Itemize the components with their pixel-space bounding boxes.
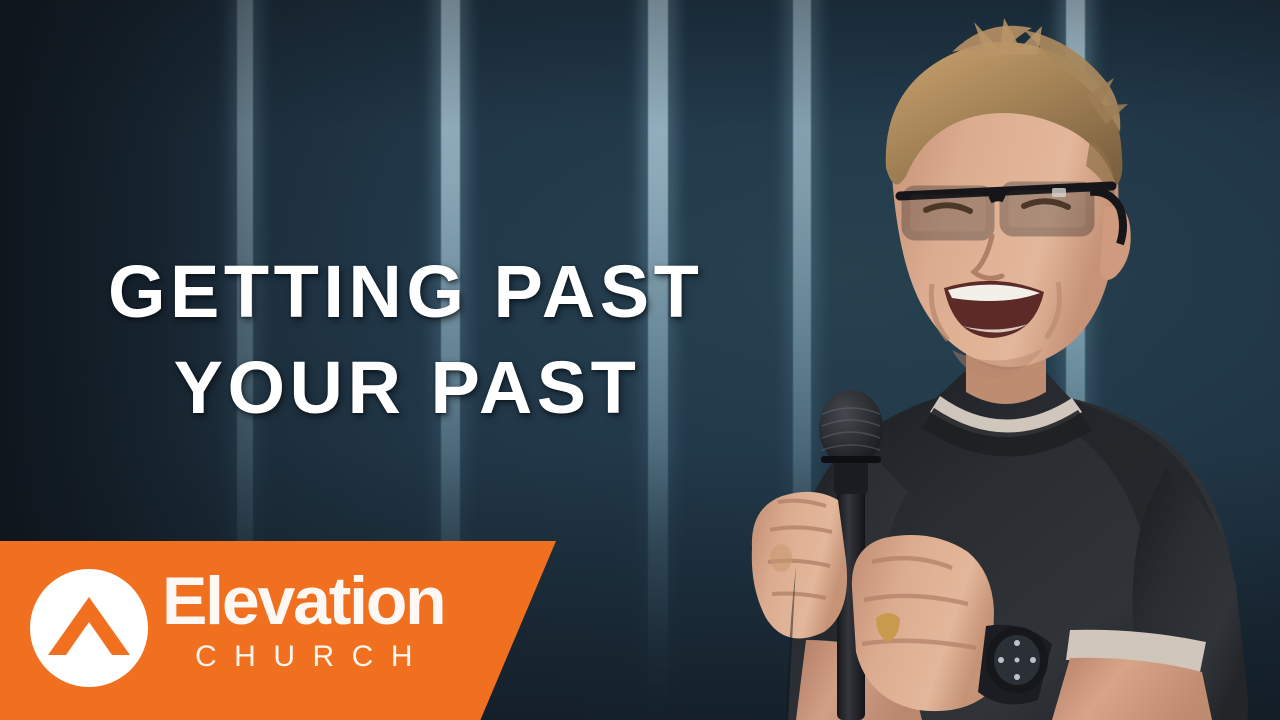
title-line-1: GETTING PAST xyxy=(108,244,728,340)
wordmark-secondary: CHURCH xyxy=(162,640,445,674)
title-block: GETTING PAST YOUR PAST xyxy=(108,244,728,436)
elevation-wordmark: Elevation CHURCH xyxy=(162,566,445,674)
elevation-chevron-icon xyxy=(30,569,148,687)
speaker-left-hand xyxy=(752,492,847,639)
ring-left xyxy=(770,544,792,572)
wordmark-primary: Elevation xyxy=(162,566,445,636)
title-line-2: YOUR PAST xyxy=(108,340,728,436)
video-thumbnail: GETTING PAST YOUR PAST Elevation CHURCH xyxy=(0,0,1280,720)
speaker-right-hand xyxy=(852,535,994,711)
microphone-head xyxy=(819,390,883,466)
